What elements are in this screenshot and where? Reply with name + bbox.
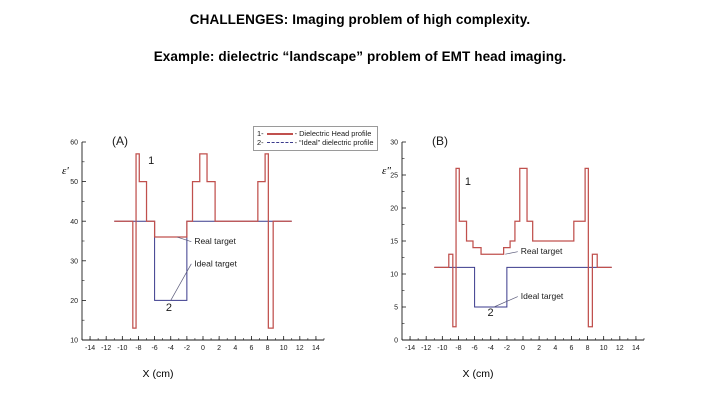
slide-title-block: CHALLENGES: Imaging problem of high comp… xyxy=(0,12,720,64)
y-tick-label: 50 xyxy=(70,179,78,186)
x-tick-label: 10 xyxy=(600,345,608,352)
x-tick-label: -2 xyxy=(184,345,190,352)
annotation-leader-line xyxy=(494,297,518,307)
x-tick-label: -8 xyxy=(455,345,461,352)
x-tick-label: 10 xyxy=(280,345,288,352)
annotation-real-target: Real target xyxy=(194,236,236,246)
x-tick-label: -14 xyxy=(85,345,95,352)
y-tick-label: 60 xyxy=(70,140,78,147)
curve-marker-2: 2 xyxy=(488,307,494,319)
y-tick-label: 20 xyxy=(70,298,78,305)
x-tick-label: 0 xyxy=(521,345,525,352)
chart-panel-a: (A) ε' X (cm) -14-12-10-8-6-4-2024681012… xyxy=(20,110,360,400)
charts-container: (A) ε' X (cm) -14-12-10-8-6-4-2024681012… xyxy=(0,110,720,400)
x-tick-label: -8 xyxy=(135,345,141,352)
y-tick-label: 30 xyxy=(390,140,398,147)
title-line-challenges: CHALLENGES: Imaging problem of high comp… xyxy=(0,12,720,27)
annotation-real-target: Real target xyxy=(521,246,563,256)
x-tick-label: -6 xyxy=(471,345,477,352)
annotation-leader-line xyxy=(177,237,191,242)
x-tick-label: 14 xyxy=(632,345,640,352)
title-line-example: Example: dielectric “landscape” problem … xyxy=(0,49,720,64)
panel-b-plot: -14-12-10-8-6-4-202468101214051015202530… xyxy=(360,110,700,400)
x-tick-label: 2 xyxy=(217,345,221,352)
x-tick-label: 2 xyxy=(537,345,541,352)
x-tick-label: 8 xyxy=(586,345,590,352)
x-tick-label: -14 xyxy=(405,345,415,352)
y-tick-label: 5 xyxy=(394,305,398,312)
y-tick-label: 10 xyxy=(390,272,398,279)
curve-marker-2: 2 xyxy=(166,302,172,314)
x-tick-label: 8 xyxy=(266,345,270,352)
x-tick-label: -10 xyxy=(437,345,447,352)
x-tick-label: -6 xyxy=(151,345,157,352)
x-tick-label: 6 xyxy=(569,345,573,352)
x-tick-label: 4 xyxy=(553,345,557,352)
curve-marker-1: 1 xyxy=(465,176,471,188)
x-tick-label: 12 xyxy=(296,345,304,352)
x-tick-label: 4 xyxy=(233,345,237,352)
annotation-leader-line xyxy=(171,264,192,301)
y-tick-label: 15 xyxy=(390,239,398,246)
annotation-leader-line xyxy=(505,252,518,255)
x-tick-label: -4 xyxy=(168,345,174,352)
x-tick-label: 0 xyxy=(201,345,205,352)
x-tick-label: -4 xyxy=(488,345,494,352)
x-tick-label: -12 xyxy=(421,345,431,352)
y-tick-label: 10 xyxy=(70,338,78,345)
y-tick-label: 25 xyxy=(390,173,398,180)
x-tick-label: 6 xyxy=(249,345,253,352)
panel-a-plot: -14-12-10-8-6-4-202468101214102030405060… xyxy=(20,110,360,400)
x-tick-label: 12 xyxy=(616,345,624,352)
slide-root: CHALLENGES: Imaging problem of high comp… xyxy=(0,0,720,405)
chart-panel-b: (B) ε" X (cm) -14-12-10-8-6-4-2024681012… xyxy=(360,110,700,400)
x-tick-label: 14 xyxy=(312,345,320,352)
annotation-ideal-target: Ideal target xyxy=(194,258,237,268)
y-tick-label: 40 xyxy=(70,219,78,226)
annotation-ideal-target: Ideal target xyxy=(521,291,564,301)
y-tick-label: 20 xyxy=(390,206,398,213)
y-tick-label: 0 xyxy=(394,338,398,345)
x-tick-label: -12 xyxy=(101,345,111,352)
curve-marker-1: 1 xyxy=(148,155,154,167)
x-tick-label: -10 xyxy=(117,345,127,352)
x-tick-label: -2 xyxy=(504,345,510,352)
y-tick-label: 30 xyxy=(70,258,78,265)
